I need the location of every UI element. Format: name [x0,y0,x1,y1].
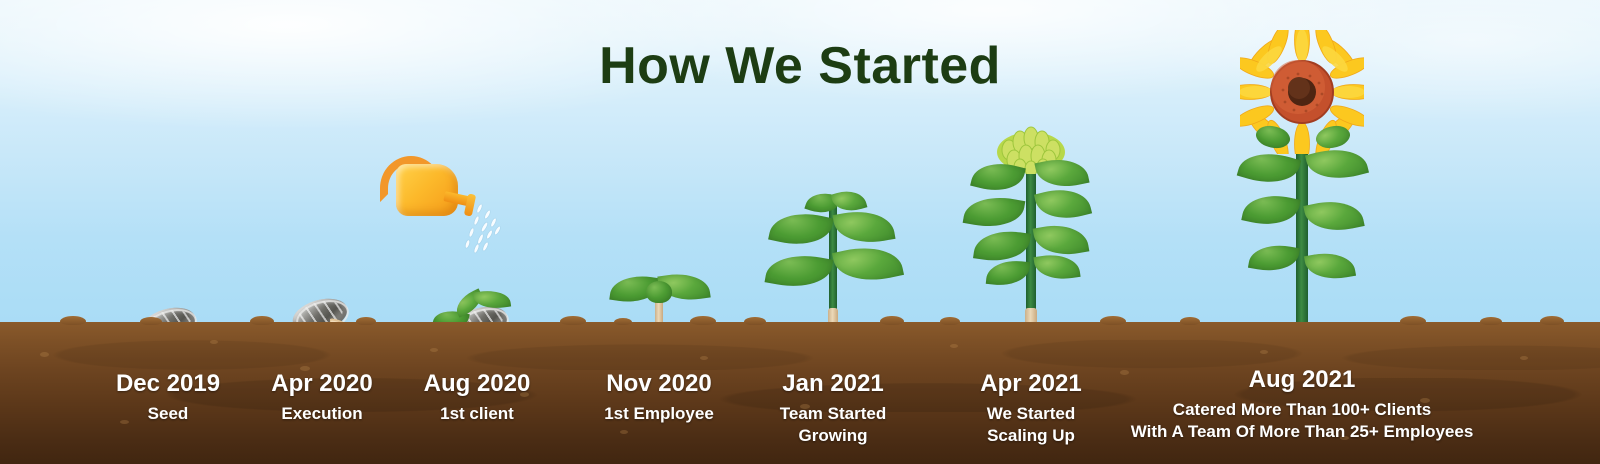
milestone-description: Execution [271,403,372,424]
milestone-label-first-employee: Nov 2020 1st Employee [604,370,714,425]
milestone-description: Seed [116,403,220,424]
milestone-date: Nov 2020 [604,370,714,398]
milestone-description-line-2: Growing [780,425,886,446]
watering-can-body [396,164,458,216]
milestone-label-scaling-up: Apr 2021 We Started Scaling Up [980,370,1081,446]
milestone-label-execution: Apr 2020 Execution [271,370,372,425]
infographic-canvas: How We Started [0,0,1600,464]
milestone-label-100-clients: Aug 2021 Catered More Than 100+ Clients … [1131,366,1474,442]
milestone-description: 1st client [424,403,531,424]
milestone-date: Apr 2020 [271,370,372,398]
milestone-description: 1st Employee [604,403,714,424]
milestone-date: Aug 2020 [424,370,531,398]
milestone-date: Dec 2019 [116,370,220,398]
seedling-leaf-center [646,281,672,303]
milestone-date: Aug 2021 [1131,366,1474,394]
milestone-description-line-1: Team Started [780,403,886,424]
milestone-date: Apr 2021 [980,370,1081,398]
milestone-description-line-2: Scaling Up [980,425,1081,446]
milestone-description-line-1: Catered More Than 100+ Clients [1131,399,1474,420]
milestone-description-line-2: With A Team Of More Than 25+ Employees [1131,421,1474,442]
milestone-label-team-growing: Jan 2021 Team Started Growing [780,370,886,446]
milestone-description-line-1: We Started [980,403,1081,424]
milestone-label-seed: Dec 2019 Seed [116,370,220,425]
milestone-label-first-client: Aug 2020 1st client [424,370,531,425]
milestone-date: Jan 2021 [780,370,886,398]
